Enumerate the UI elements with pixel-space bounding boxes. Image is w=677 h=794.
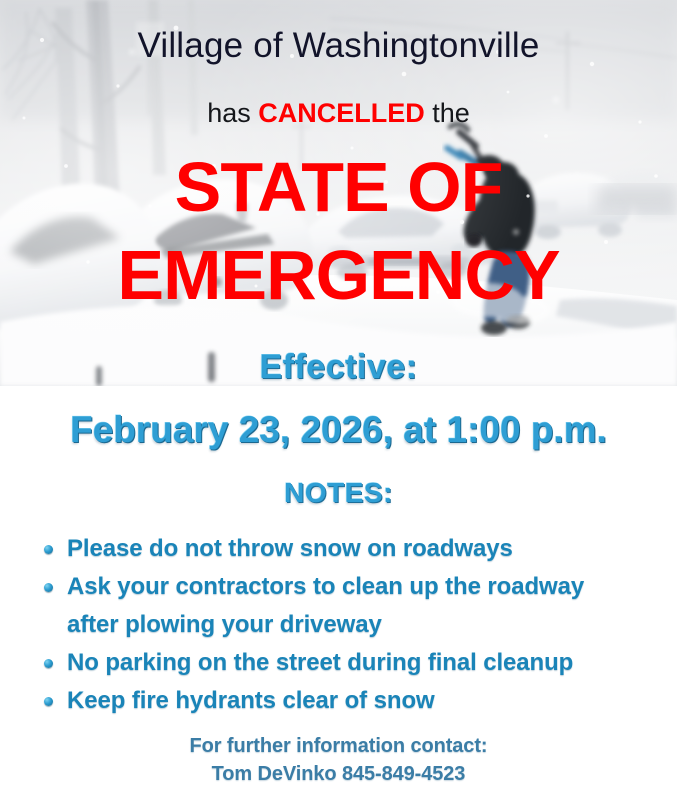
statement-suffix: the: [425, 98, 470, 128]
notes-heading: NOTES:: [0, 477, 677, 509]
effective-datetime: February 23, 2026, at 1:00 p.m.: [0, 409, 677, 451]
list-item-label: Please do not throw snow on roadways: [67, 535, 513, 562]
cancellation-statement: has CANCELLED the: [0, 98, 677, 129]
list-item: Please do not throw snow on roadways: [40, 530, 640, 568]
list-item: after plowing your driveway: [40, 606, 640, 644]
declaration-line-2: EMERGENCY: [0, 240, 677, 310]
contact-details: Tom DeVinko 845-849-4523: [0, 763, 677, 786]
list-item: Keep fire hydrants clear of snow: [40, 682, 640, 720]
effective-label: Effective:: [0, 348, 677, 387]
list-item: No parking on the street during final cl…: [40, 644, 640, 682]
list-item-label: Ask your contractors to clean up the roa…: [67, 573, 584, 600]
notes-list: Please do not throw snow on roadwaysAsk …: [40, 530, 640, 720]
statement-prefix: has: [207, 98, 258, 128]
bullet-icon: [44, 697, 53, 706]
list-item-label: No parking on the street during final cl…: [67, 649, 573, 676]
declaration-line-1: STATE OF: [0, 152, 677, 222]
contact-intro: For further information contact:: [0, 735, 677, 758]
cancelled-emphasis: CANCELLED: [258, 98, 425, 128]
bullet-icon: [44, 659, 53, 668]
list-item: Ask your contractors to clean up the roa…: [40, 568, 640, 606]
list-item-label: after plowing your driveway: [67, 611, 382, 638]
list-item-label: Keep fire hydrants clear of snow: [67, 687, 435, 714]
bullet-icon: [44, 583, 53, 592]
page-title: Village of Washingtonville: [0, 26, 677, 66]
bullet-icon: [44, 545, 53, 554]
